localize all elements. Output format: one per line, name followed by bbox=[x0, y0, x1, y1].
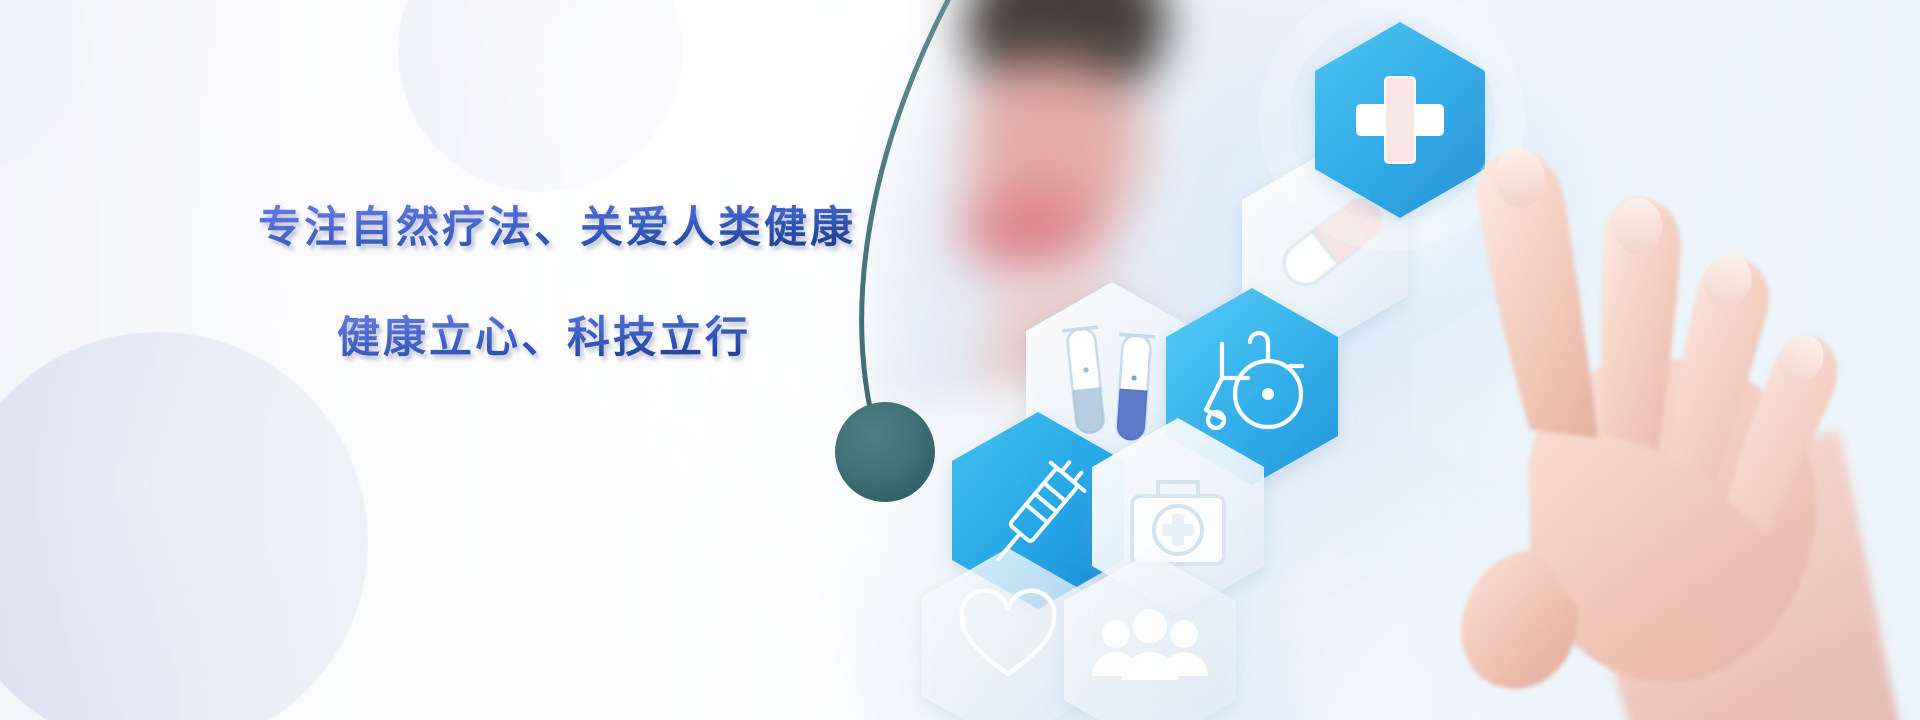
pointing-hand bbox=[1200, 30, 1920, 720]
promo-banner: 专注自然疗法、关爱人类健康 健康立心、科技立行 bbox=[0, 0, 1920, 720]
middle-fingernail bbox=[1614, 198, 1662, 254]
headline-line-2: 健康立心、科技立行 bbox=[337, 303, 751, 365]
headline-line-1: 专注自然疗法、关爱人类健康 bbox=[258, 193, 856, 255]
headline-block: 专注自然疗法、关爱人类健康 健康立心、科技立行 bbox=[0, 0, 940, 720]
hero-photo bbox=[820, 0, 1920, 720]
